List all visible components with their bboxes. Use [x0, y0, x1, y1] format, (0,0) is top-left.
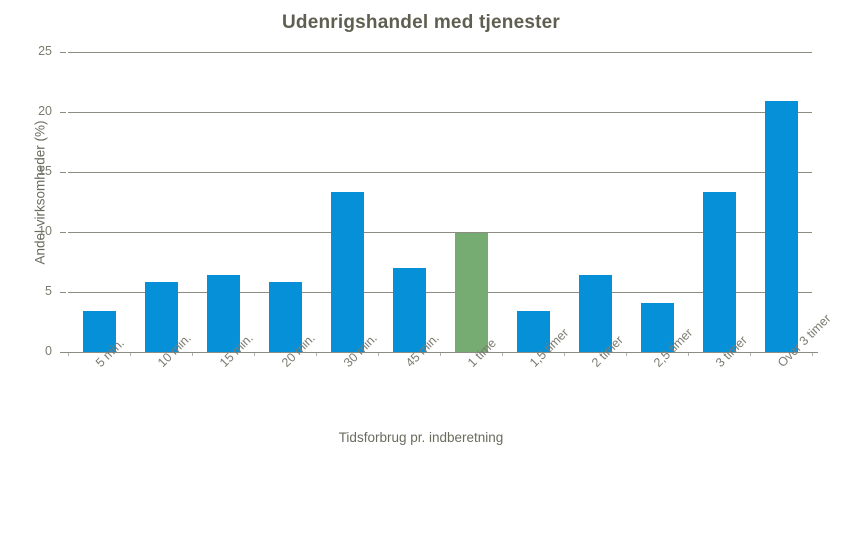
x-axis-tick: [688, 353, 689, 356]
x-axis-tick: [626, 353, 627, 356]
bar[interactable]: [331, 192, 364, 352]
x-axis-tick: [192, 353, 193, 356]
gridline: [68, 112, 812, 113]
x-axis-tick: [750, 353, 751, 356]
y-axis-tick-label: 25: [24, 45, 52, 58]
x-axis-tick: [130, 353, 131, 356]
x-axis-tick: [316, 353, 317, 356]
y-axis-tick-label: 10: [24, 225, 52, 238]
chart-title: Udenrigshandel med tjenester: [0, 12, 842, 34]
x-axis-tick: [68, 353, 69, 356]
y-axis-tick: [60, 352, 66, 353]
y-axis-tick: [60, 112, 66, 113]
bar[interactable]: [765, 101, 798, 352]
y-axis-tick: [60, 172, 66, 173]
gridline: [68, 172, 812, 173]
y-axis-tick-label: 0: [24, 345, 52, 358]
y-axis-tick-label: 20: [24, 105, 52, 118]
bar-chart: Udenrigshandel med tjenester Andel virks…: [0, 0, 842, 558]
y-axis-labels: 0510152025: [20, 0, 52, 558]
bar[interactable]: [703, 192, 736, 352]
x-axis-tick: [812, 353, 813, 356]
y-axis-tick-label: 5: [24, 285, 52, 298]
gridline: [68, 232, 812, 233]
plot-area: [68, 52, 812, 352]
x-axis-tick: [254, 353, 255, 356]
gridline: [68, 52, 812, 53]
x-axis-tick: [502, 353, 503, 356]
gridline: [68, 292, 812, 293]
x-axis-tick: [440, 353, 441, 356]
x-axis-title: Tidsforbrug pr. indberetning: [0, 430, 842, 445]
y-axis-tick: [60, 292, 66, 293]
y-axis-tick: [60, 232, 66, 233]
y-axis-tick: [60, 52, 66, 53]
x-axis-tick: [564, 353, 565, 356]
bar[interactable]: [455, 233, 488, 352]
x-axis-tick: [378, 353, 379, 356]
bar[interactable]: [393, 268, 426, 352]
y-axis-tick-label: 15: [24, 165, 52, 178]
